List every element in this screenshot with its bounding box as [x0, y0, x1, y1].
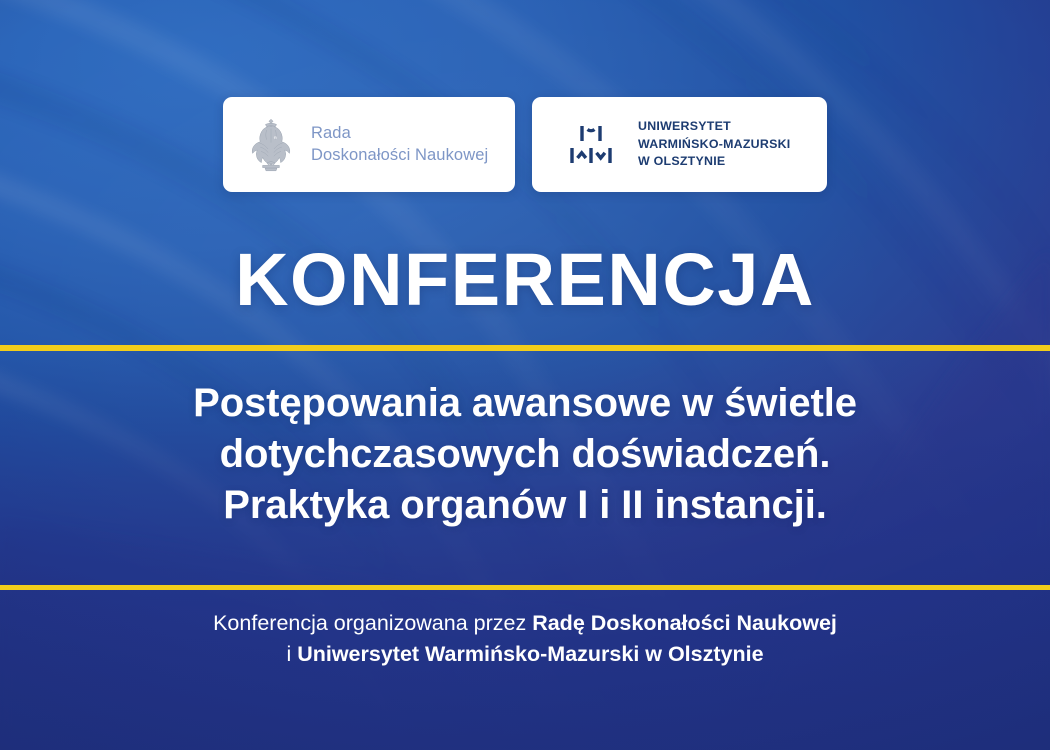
uwm-bars-mark-icon [568, 123, 618, 167]
uwm-logo-line3: W OLSZTYNIE [638, 153, 791, 171]
rdn-logo-line2: Doskonałości Naukowej [311, 145, 488, 166]
logo-row: Rada Doskonałości Naukowej UNIWERSYTET [0, 97, 1050, 192]
conference-subtitle: Postępowania awansowe w świetle dotychcz… [0, 378, 1050, 532]
polish-eagle-emblem-icon [245, 116, 297, 174]
organizers-line-2-bold: Uniwersytet Warmińsko-Mazurski w Olsztyn… [297, 642, 763, 666]
rdn-logo-line1: Rada [311, 123, 488, 144]
conference-poster: Rada Doskonałości Naukowej UNIWERSYTET [0, 0, 1050, 750]
uwm-logo-line2: WARMIŃSKO-MAZURSKI [638, 136, 791, 154]
logo-card-rada-doskonalosci-naukowej: Rada Doskonałości Naukowej [223, 97, 515, 192]
organizers-line-1-regular: Konferencja organizowana przez [213, 611, 532, 635]
organizers-line-1: Konferencja organizowana przez Radę Dosk… [0, 608, 1050, 639]
organizers-line-2-regular: i [286, 642, 297, 666]
page-title: KONFERENCJA [0, 243, 1050, 317]
logo-card-uniwersytet-warminsko-mazurski: UNIWERSYTET WARMIŃSKO-MAZURSKI W OLSZTYN… [532, 97, 827, 192]
organizers-line-1-bold: Radę Doskonałości Naukowej [532, 611, 837, 635]
subtitle-line-1: Postępowania awansowe w świetle [0, 378, 1050, 429]
uwm-logo-line1: UNIWERSYTET [638, 118, 791, 136]
organizers-line-2: i Uniwersytet Warmińsko-Mazurski w Olszt… [0, 639, 1050, 670]
rdn-logo-text: Rada Doskonałości Naukowej [311, 123, 488, 165]
divider-secondary [0, 585, 1050, 590]
uwm-logo-text: UNIWERSYTET WARMIŃSKO-MAZURSKI W OLSZTYN… [638, 118, 791, 171]
divider-main [0, 345, 1050, 351]
subtitle-line-2: dotychczasowych doświadczeń. [0, 429, 1050, 480]
subtitle-line-3: Praktyka organów I i II instancji. [0, 480, 1050, 531]
organizers-note: Konferencja organizowana przez Radę Dosk… [0, 608, 1050, 669]
